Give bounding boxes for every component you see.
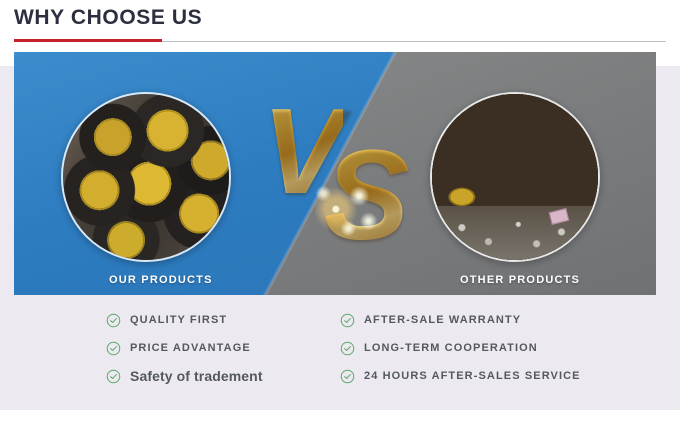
gravel-ground <box>432 206 598 260</box>
check-circle-icon <box>106 369 121 384</box>
feature-label: 24 HOURS AFTER-SALES SERVICE <box>364 370 581 382</box>
check-circle-icon <box>106 313 121 328</box>
feature-list: QUALITY FIRST PRICE ADVANTAGE Safety of … <box>0 306 680 402</box>
comparison-banner: V S OUR PRODUCTS OTHER PRODUCTS <box>14 52 656 295</box>
versus-graphic: V S <box>262 90 422 265</box>
other-products-caption: OTHER PRODUCTS <box>460 274 580 286</box>
page-title: WHY CHOOSE US <box>14 6 202 30</box>
feature-label: AFTER-SALE WARRANTY <box>364 314 521 326</box>
our-products-photo <box>61 92 231 262</box>
feature-label: Safety of tradement <box>130 368 263 384</box>
check-circle-icon <box>106 341 121 356</box>
feature-label: QUALITY FIRST <box>130 314 227 326</box>
check-circle-icon <box>340 369 355 384</box>
title-accent-underline <box>14 39 162 42</box>
feature-label: PRICE ADVANTAGE <box>130 342 251 354</box>
steel-pipe-bundle-image <box>63 94 229 260</box>
feature-item: 24 HOURS AFTER-SALES SERVICE <box>340 362 581 390</box>
feature-item: LONG-TERM COOPERATION <box>340 334 581 362</box>
feature-item: PRICE ADVANTAGE <box>106 334 263 362</box>
check-circle-icon <box>340 313 355 328</box>
feature-item: Safety of tradement <box>106 362 263 390</box>
feature-column-right: AFTER-SALE WARRANTY LONG-TERM COOPERATIO… <box>340 306 581 390</box>
other-products-photo <box>430 92 600 262</box>
check-circle-icon <box>340 341 355 356</box>
sparkle-icon <box>314 178 392 238</box>
feature-column-left: QUALITY FIRST PRICE ADVANTAGE Safety of … <box>106 306 263 390</box>
our-products-caption: OUR PRODUCTS <box>109 274 213 286</box>
feature-item: QUALITY FIRST <box>106 306 263 334</box>
section-header: WHY CHOOSE US <box>0 0 680 48</box>
feature-item: AFTER-SALE WARRANTY <box>340 306 581 334</box>
feature-label: LONG-TERM COOPERATION <box>364 342 538 354</box>
